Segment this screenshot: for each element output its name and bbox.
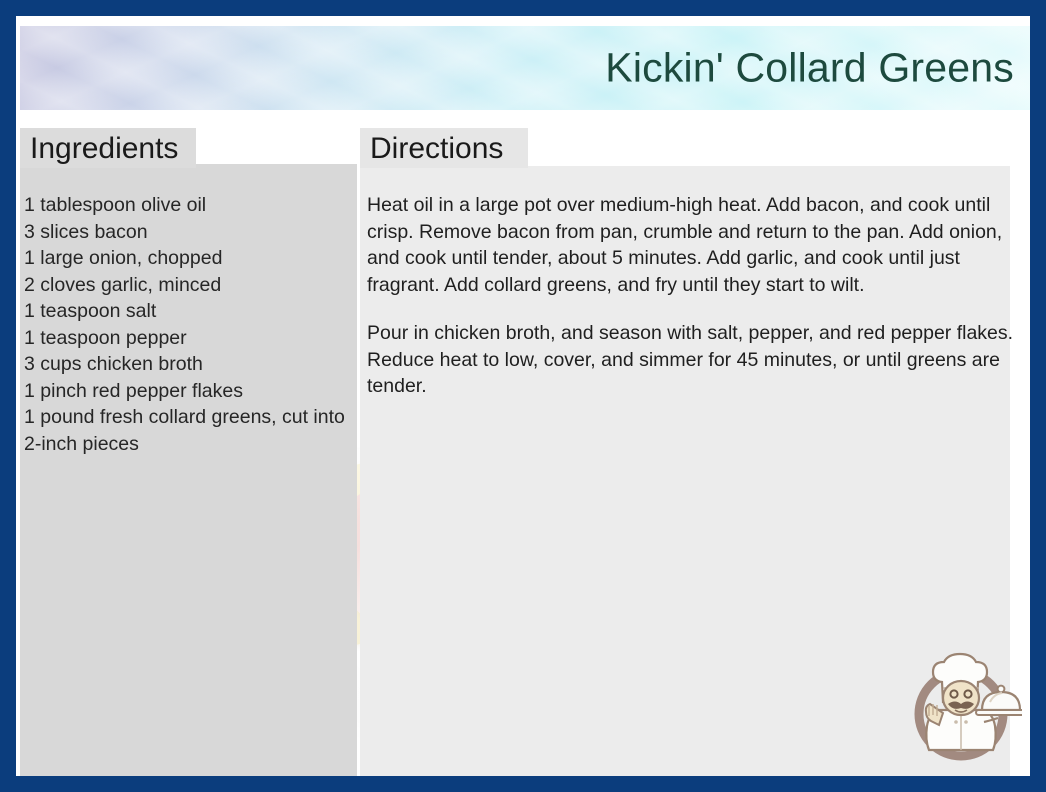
title-banner: Kickin' Collard Greens: [20, 26, 1030, 110]
frame-right-border: [1030, 0, 1046, 792]
tab-directions[interactable]: Directions: [360, 128, 528, 168]
list-item: 3 slices bacon: [24, 219, 354, 246]
directions-text: Heat oil in a large pot over medium-high…: [367, 192, 1017, 422]
frame-bottom-border: [0, 776, 1046, 792]
frame-top-border: [0, 0, 1046, 16]
list-item: 3 cups chicken broth: [24, 351, 354, 378]
page-title: Kickin' Collard Greens: [605, 45, 1014, 92]
list-item: 1 tablespoon olive oil: [24, 192, 354, 219]
tab-ingredients[interactable]: Ingredients: [20, 128, 196, 168]
list-item: 1 large onion, chopped: [24, 245, 354, 272]
list-item: 1 teaspoon salt: [24, 298, 354, 325]
list-item: 1 teaspoon pepper: [24, 325, 354, 352]
recipe-slide: Kickin' Collard Greens Ingredients 1 tab…: [0, 0, 1046, 792]
frame-left-border: [0, 0, 16, 792]
ingredients-list: 1 tablespoon olive oil 3 slices bacon 1 …: [24, 192, 354, 457]
directions-paragraph: Pour in chicken broth, and season with s…: [367, 320, 1017, 400]
chef-with-cloche-logo: [900, 648, 1022, 770]
list-item: 1 pinch red pepper flakes: [24, 378, 354, 405]
list-item: 1 pound fresh collard greens, cut into 2…: [24, 404, 354, 457]
list-item: 2 cloves garlic, minced: [24, 272, 354, 299]
directions-paragraph: Heat oil in a large pot over medium-high…: [367, 192, 1017, 298]
